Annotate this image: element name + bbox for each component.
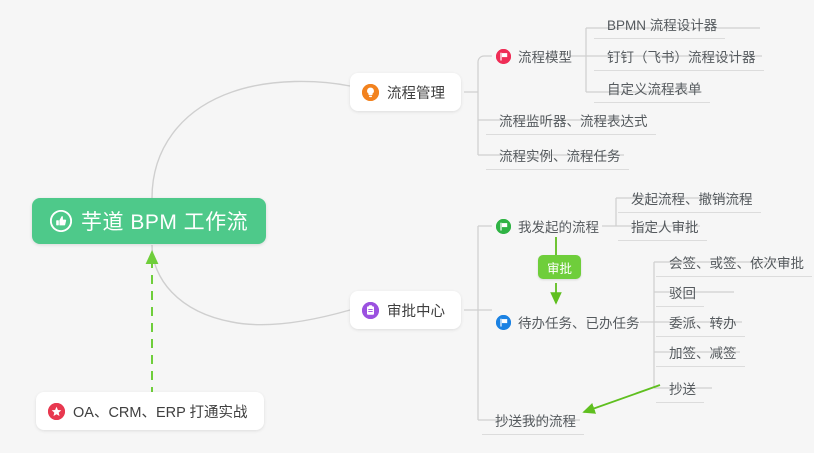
node-cc[interactable]: 抄送 [656, 373, 704, 403]
node-label: 抄送 [669, 378, 696, 398]
node-label: BPMN 流程设计器 [607, 14, 717, 34]
node-custom-form[interactable]: 自定义流程表单 [594, 73, 710, 103]
node-label: 抄送我的流程 [495, 410, 576, 430]
bottom-note-node[interactable]: OA、CRM、ERP 打通实战 [36, 392, 264, 430]
node-delegate-transfer[interactable]: 委派、转办 [656, 307, 745, 337]
root-node[interactable]: 芋道 BPM 工作流 [32, 198, 266, 244]
node-label: 钉钉（飞书）流程设计器 [607, 46, 756, 66]
node-label: 驳回 [669, 282, 696, 302]
node-label: 流程实例、流程任务 [499, 145, 621, 165]
node-reject[interactable]: 驳回 [656, 277, 704, 307]
thumbs-up-icon [50, 210, 72, 232]
node-process-instance-task[interactable]: 流程实例、流程任务 [486, 140, 629, 170]
node-my-initiated-process[interactable]: 我发起的流程 [490, 211, 607, 241]
root-node-label: 芋道 BPM 工作流 [81, 206, 248, 236]
flag-icon [496, 315, 511, 330]
approve-badge-label: 审批 [547, 258, 572, 277]
node-process-listener-expression[interactable]: 流程监听器、流程表达式 [486, 105, 656, 135]
node-start-cancel-process[interactable]: 发起流程、撤销流程 [618, 183, 761, 213]
node-process-model[interactable]: 流程模型 [490, 41, 580, 71]
node-countersign-orsign-sequential[interactable]: 会签、或签、依次审批 [656, 247, 812, 277]
flag-icon [496, 219, 511, 234]
node-label: 流程监听器、流程表达式 [499, 110, 648, 130]
node-label: 指定人审批 [631, 216, 699, 236]
node-add-remove-sign[interactable]: 加签、减签 [656, 337, 745, 367]
node-dingtalk-designer[interactable]: 钉钉（飞书）流程设计器 [594, 41, 764, 71]
node-label: 发起流程、撤销流程 [631, 188, 753, 208]
node-label: 加签、减签 [669, 342, 737, 362]
node-label: 自定义流程表单 [607, 78, 702, 98]
node-label: 流程模型 [518, 46, 572, 66]
node-label: 委派、转办 [669, 312, 737, 332]
lightbulb-icon [362, 84, 379, 101]
node-label: 待办任务、已办任务 [518, 312, 640, 332]
node-label: 会签、或签、依次审批 [669, 252, 804, 272]
node-bpmn-designer[interactable]: BPMN 流程设计器 [594, 9, 725, 39]
star-icon [48, 403, 65, 420]
bottom-note-label: OA、CRM、ERP 打通实战 [73, 401, 248, 422]
branch-node-approval-center[interactable]: 审批中心 [350, 291, 461, 329]
node-label: 我发起的流程 [518, 216, 599, 236]
branch-node-label: 审批中心 [387, 300, 445, 321]
mindmap-canvas: 芋道 BPM 工作流 流程管理 流程模型 BPMN 流程设计器 钉钉（飞书）流程… [0, 0, 814, 453]
node-assignee-approval[interactable]: 指定人审批 [618, 211, 707, 241]
flag-icon [496, 49, 511, 64]
approve-badge: 审批 [538, 255, 581, 279]
branch-node-label: 流程管理 [387, 82, 445, 103]
node-cc-to-me-process[interactable]: 抄送我的流程 [482, 405, 584, 435]
clipboard-icon [362, 302, 379, 319]
branch-node-process-management[interactable]: 流程管理 [350, 73, 461, 111]
node-todo-done-tasks[interactable]: 待办任务、已办任务 [490, 307, 648, 337]
